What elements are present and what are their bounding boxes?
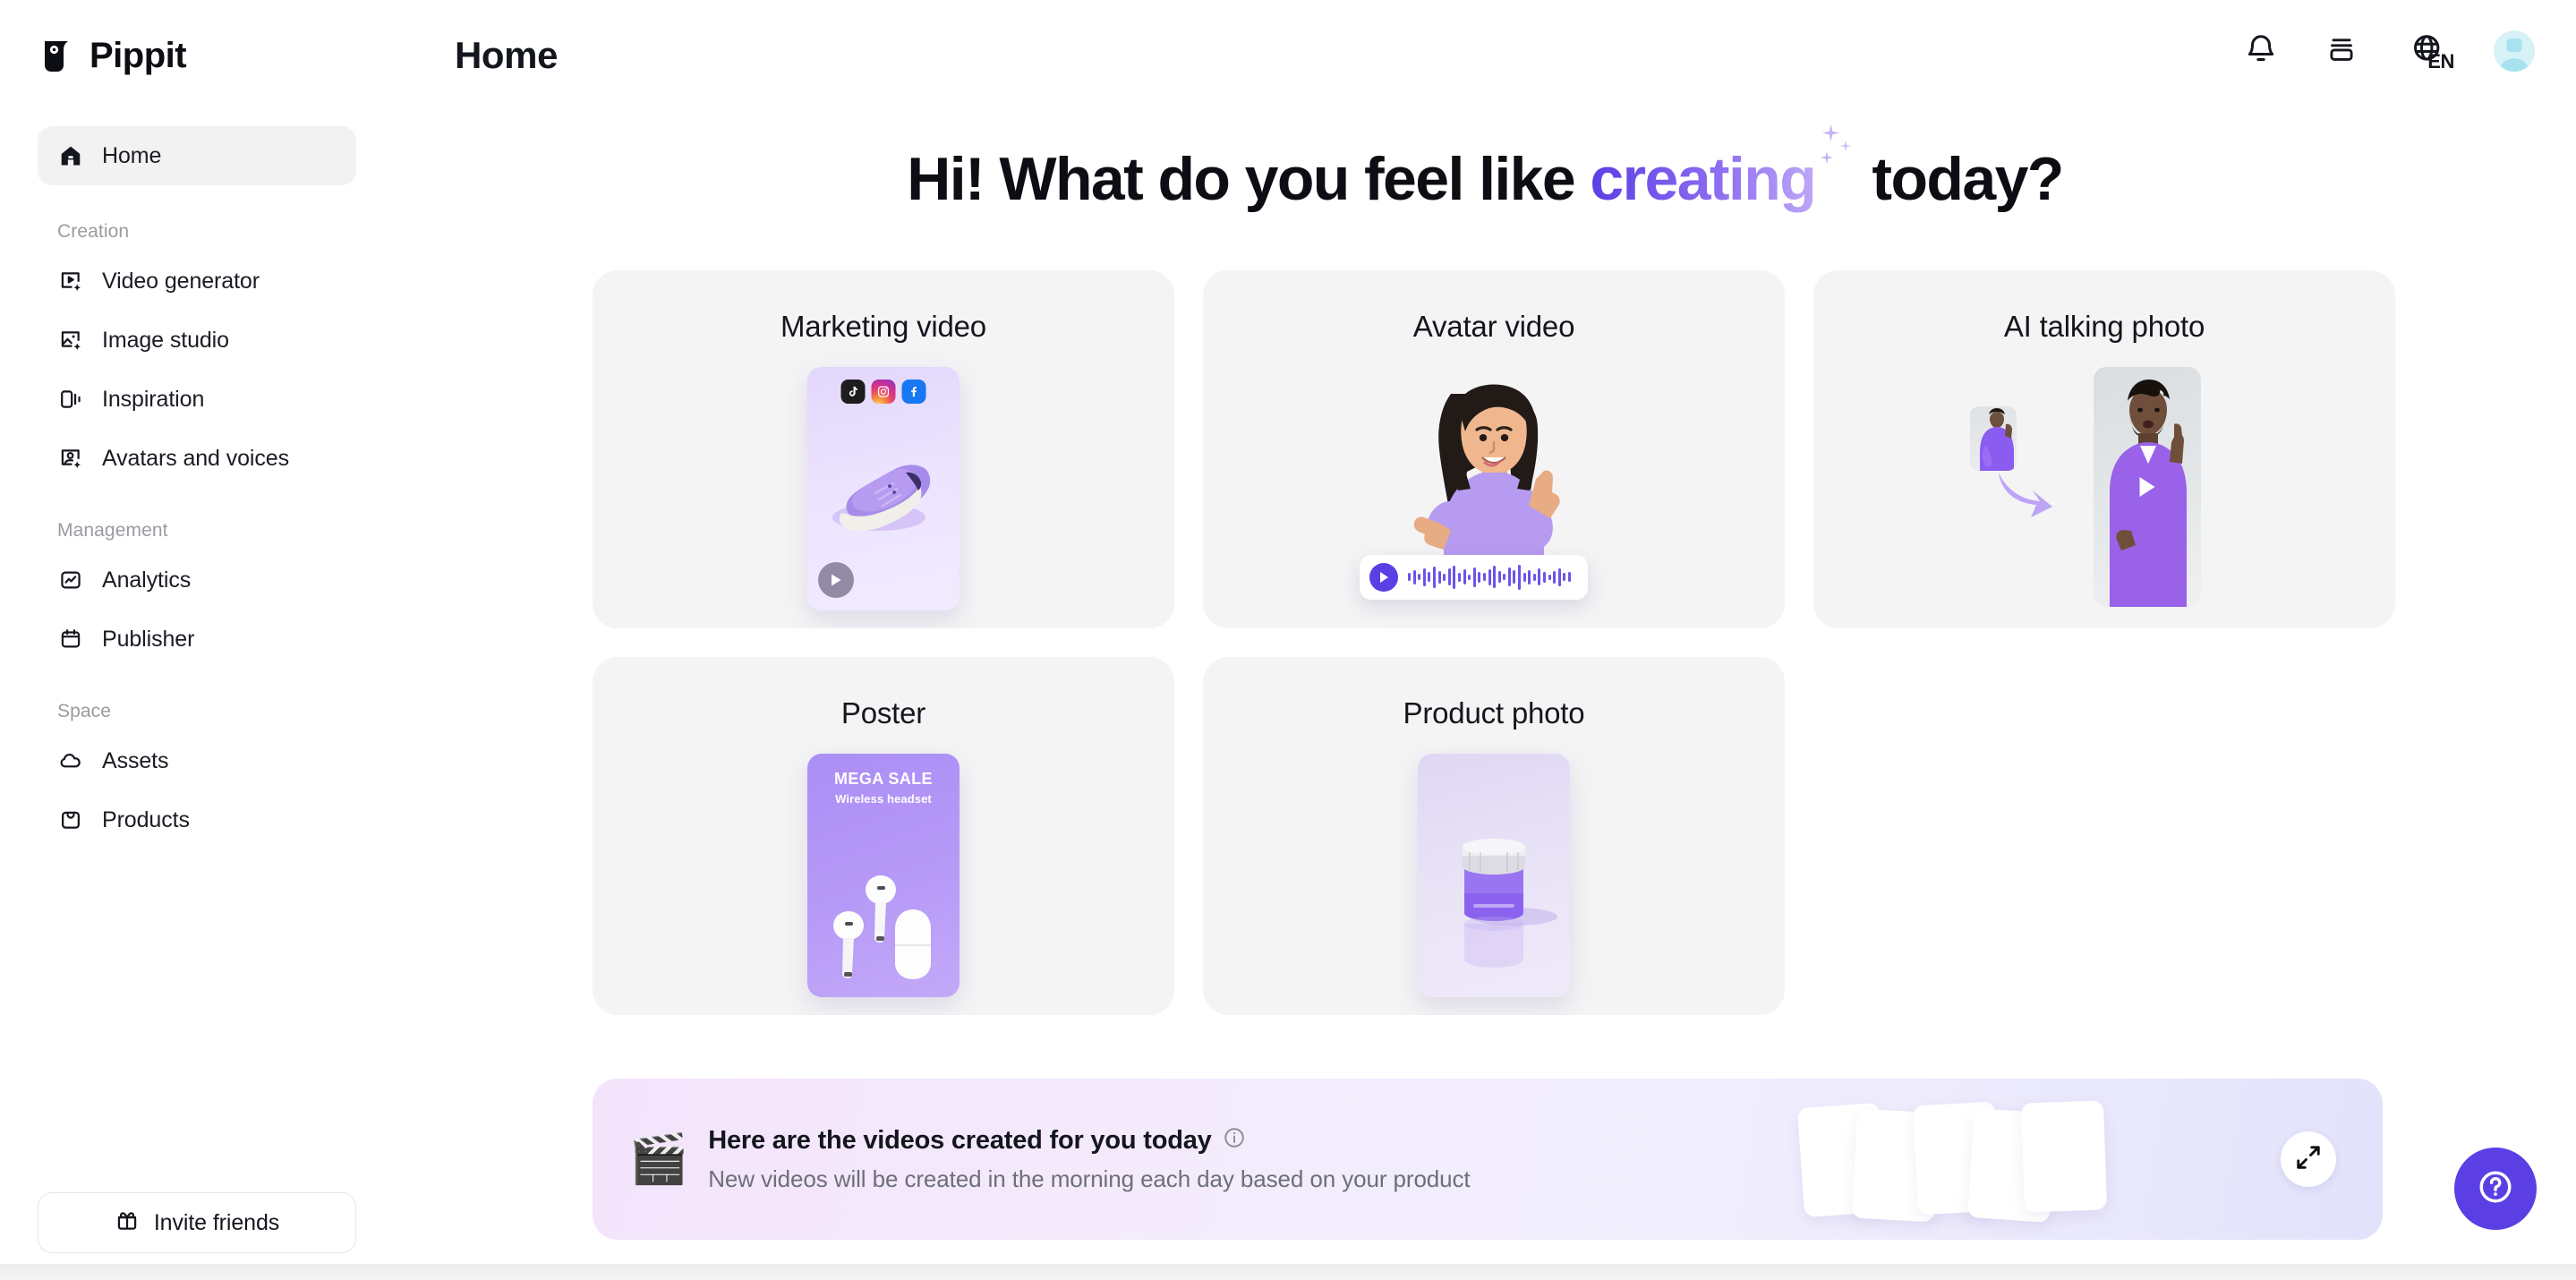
expand-icon bbox=[2295, 1144, 2322, 1175]
info-icon[interactable] bbox=[1223, 1126, 1246, 1156]
tiktok-icon bbox=[841, 380, 866, 404]
avatar-head bbox=[2507, 38, 2522, 52]
waveform bbox=[1408, 564, 1571, 591]
sidebar-item-label: Video generator bbox=[102, 269, 260, 294]
sidebar-group-creation: Creation bbox=[57, 221, 394, 243]
sidebar-item-label: Assets bbox=[102, 748, 168, 774]
expand-button[interactable] bbox=[2281, 1131, 2336, 1187]
brand-name: Pippit bbox=[90, 36, 186, 76]
card-avatar-video[interactable]: Avatar video bbox=[1203, 270, 1785, 628]
audio-player[interactable] bbox=[1360, 555, 1588, 600]
sidebar-item-image-studio[interactable]: Image studio bbox=[38, 311, 356, 370]
sidebar-item-video-generator[interactable]: Video generator bbox=[38, 252, 356, 311]
bell-icon bbox=[2244, 32, 2278, 71]
sparkles-icon bbox=[1815, 155, 1856, 200]
invite-friends-label: Invite friends bbox=[154, 1210, 279, 1236]
sidebar-item-label: Inspiration bbox=[102, 387, 204, 413]
poster-headline: MEGA SALE bbox=[807, 770, 960, 789]
sidebar-item-label: Image studio bbox=[102, 328, 229, 354]
question-mark-icon bbox=[2476, 1167, 2515, 1211]
sidebar-item-label: Publisher bbox=[102, 627, 194, 653]
play-icon[interactable] bbox=[2140, 477, 2155, 497]
card-product-photo[interactable]: Product photo bbox=[1203, 657, 1785, 1015]
card-title: Marketing video bbox=[593, 310, 1174, 344]
card-marketing-video[interactable]: Marketing video bbox=[593, 270, 1174, 628]
daily-videos-banner[interactable]: 🎬 Here are the videos created for you to… bbox=[593, 1079, 2383, 1240]
product-photo-thumbnail bbox=[1418, 754, 1570, 997]
avatar[interactable] bbox=[2494, 30, 2535, 72]
help-button[interactable] bbox=[2454, 1148, 2537, 1230]
sidebar-item-publisher[interactable]: Publisher bbox=[38, 610, 356, 669]
image-sparkle-icon bbox=[57, 327, 84, 354]
calendar-icon bbox=[57, 626, 84, 653]
banner-subtitle: New videos will be created in the mornin… bbox=[708, 1165, 1470, 1193]
social-icons bbox=[841, 380, 926, 404]
sidebar-item-label: Products bbox=[102, 807, 190, 833]
sidebar-item-avatars-and-voices[interactable]: Avatars and voices bbox=[38, 429, 356, 488]
sidebar-item-assets[interactable]: Assets bbox=[38, 731, 356, 790]
card-ai-talking-photo[interactable]: AI talking photo bbox=[1813, 270, 2395, 628]
sidebar-item-label: Analytics bbox=[102, 567, 191, 593]
video-sparkle-icon bbox=[57, 268, 84, 294]
top-bar: Pippit Home bbox=[0, 0, 2576, 121]
cloud-icon bbox=[57, 747, 84, 774]
language-label: EN bbox=[2427, 50, 2454, 73]
language-button[interactable]: EN bbox=[2402, 31, 2452, 71]
ai-talking-photo-thumbnail bbox=[1970, 367, 2239, 610]
credits-button[interactable] bbox=[2322, 31, 2361, 71]
instagram-icon bbox=[872, 380, 896, 404]
sidebar-item-label: Home bbox=[102, 143, 161, 169]
sidebar-group-management: Management bbox=[57, 520, 394, 542]
card-title: AI talking photo bbox=[1813, 310, 2395, 344]
clapper-board-emoji: 🎬 bbox=[628, 1135, 688, 1183]
invite-friends-button[interactable]: Invite friends bbox=[38, 1192, 356, 1253]
sidebar-item-analytics[interactable]: Analytics bbox=[38, 550, 356, 610]
analytics-chart-icon bbox=[57, 567, 84, 593]
sidebar: Home Creation Video generator bbox=[0, 121, 394, 1280]
poster-subline: Wireless headset bbox=[807, 792, 960, 806]
facebook-icon bbox=[902, 380, 926, 404]
play-icon[interactable] bbox=[818, 562, 854, 598]
sidebar-item-home[interactable]: Home bbox=[38, 126, 356, 185]
hero-suffix: today? bbox=[1856, 145, 2063, 213]
card-title: Poster bbox=[593, 696, 1174, 730]
top-bar-actions: EN bbox=[2241, 30, 2535, 72]
marketing-video-thumbnail bbox=[807, 367, 960, 610]
avatar-body bbox=[2498, 58, 2530, 72]
sidebar-group-space: Space bbox=[57, 701, 394, 722]
card-title: Product photo bbox=[1203, 696, 1785, 730]
gift-icon bbox=[115, 1208, 140, 1238]
avatar-sparkle-icon bbox=[57, 445, 84, 472]
credits-stack-icon bbox=[2325, 33, 2358, 70]
sidebar-item-inspiration[interactable]: Inspiration bbox=[38, 370, 356, 429]
banner-text: Here are the videos created for you toda… bbox=[708, 1126, 1470, 1193]
transform-arrow-icon bbox=[1993, 467, 2056, 517]
pippit-logo-icon bbox=[41, 38, 77, 75]
sidebar-item-products[interactable]: Products bbox=[38, 790, 356, 849]
play-icon[interactable] bbox=[1369, 563, 1398, 592]
banner-title: Here are the videos created for you toda… bbox=[708, 1126, 1211, 1156]
brand-logo[interactable]: Pippit bbox=[41, 36, 186, 76]
notification-button[interactable] bbox=[2241, 31, 2281, 71]
result-photo bbox=[2094, 367, 2201, 607]
avatar-video-thumbnail bbox=[1360, 367, 1628, 600]
page-title: Home bbox=[455, 34, 558, 77]
main-content: Hi! What do you feel like creating today… bbox=[394, 121, 2576, 1280]
inspiration-card-icon bbox=[57, 386, 84, 413]
banner-title-row: Here are the videos created for you toda… bbox=[708, 1126, 1470, 1156]
banner-video-thumbnails bbox=[1801, 1102, 2177, 1218]
card-poster[interactable]: Poster MEGA SALE Wireless headset bbox=[593, 657, 1174, 1015]
poster-thumbnail: MEGA SALE Wireless headset bbox=[807, 754, 960, 997]
sidebar-item-label: Avatars and voices bbox=[102, 446, 289, 472]
hero-highlight: creating bbox=[1590, 145, 1815, 213]
app-root: Pippit Home bbox=[0, 0, 2576, 1280]
home-icon bbox=[57, 142, 84, 169]
source-photo bbox=[1970, 406, 2017, 471]
hero-heading: Hi! What do you feel like creating today… bbox=[394, 142, 2576, 217]
creation-cards-grid: Marketing video bbox=[593, 270, 2576, 1015]
bottom-strip bbox=[0, 1264, 2576, 1280]
bag-icon bbox=[57, 806, 84, 833]
card-title: Avatar video bbox=[1203, 310, 1785, 344]
hero-prefix: Hi! What do you feel like bbox=[907, 145, 1590, 213]
